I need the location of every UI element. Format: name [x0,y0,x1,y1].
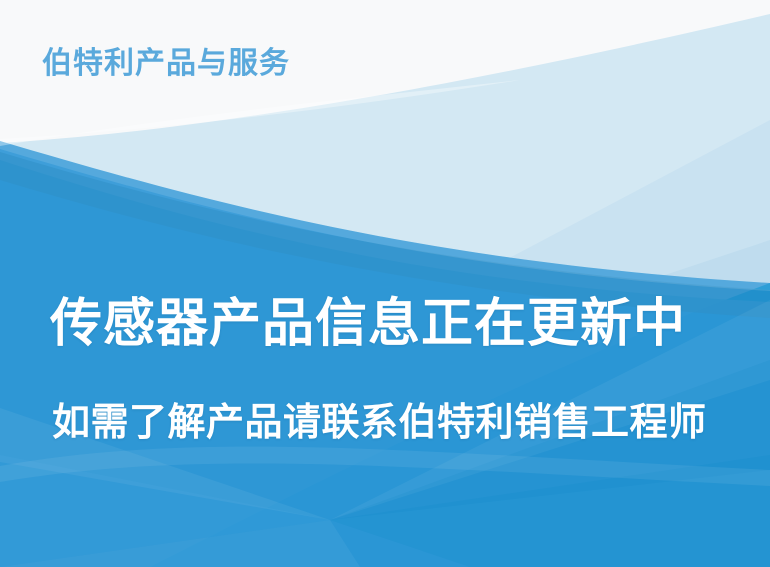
page-title: 伯特利产品与服务 [42,46,290,82]
headline-text: 传感器产品信息正在更新中 [50,295,686,355]
banner-content: 伯特利产品与服务 传感器产品信息正在更新中 如需了解产品请联系伯特利销售工程师 [0,0,770,567]
product-service-banner: 伯特利产品与服务 传感器产品信息正在更新中 如需了解产品请联系伯特利销售工程师 [0,0,770,567]
subheadline-text: 如需了解产品请联系伯特利销售工程师 [52,401,707,445]
